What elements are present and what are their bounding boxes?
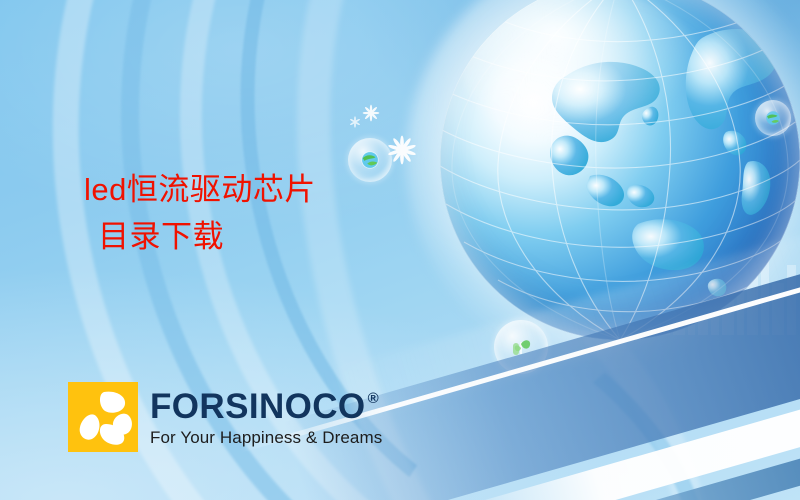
logo-tagline: For Your Happiness & Dreams [150, 429, 382, 446]
globe-glow [406, 0, 800, 374]
banner-canvas: led恒流驱动芯片 目录下载 FORSINOCO ® For Your Happ… [0, 0, 800, 500]
leaf-sprout-icon [506, 332, 536, 362]
city-skyline-icon [620, 225, 800, 335]
headline: led恒流驱动芯片 目录下载 [84, 166, 414, 260]
ribbon-white-wide [465, 362, 800, 500]
logo-wordmark-text: FORSINOCO [150, 389, 366, 424]
brand-logo: FORSINOCO ® For Your Happiness & Dreams [68, 382, 382, 452]
bubble-globe-small-content [755, 100, 791, 136]
globe-grid-lines [440, 0, 800, 340]
four-petal-pinwheel-icon [68, 382, 138, 452]
flower-decoration-icon [349, 116, 361, 128]
ribbon-steel-blue [556, 410, 800, 500]
globe-icon [764, 109, 782, 127]
bubble-sprout [494, 320, 548, 374]
flower-decoration-icon [386, 134, 418, 166]
globe-sphere [440, 0, 800, 340]
registered-trademark-icon: ® [368, 391, 379, 406]
globe-continents [440, 0, 800, 340]
headline-line-1: led恒流驱动芯片 [84, 166, 414, 213]
flower-decoration-icon [362, 104, 380, 122]
logo-wordmark: FORSINOCO ® [150, 389, 382, 424]
logo-text-block: FORSINOCO ® For Your Happiness & Dreams [150, 389, 382, 446]
headline-line-2: 目录下载 [84, 213, 414, 260]
globe-rim-highlight [440, 0, 800, 340]
bubble-globe-small [755, 100, 791, 136]
bubble-sprout-content [494, 320, 548, 374]
earth-globe [440, 0, 800, 340]
